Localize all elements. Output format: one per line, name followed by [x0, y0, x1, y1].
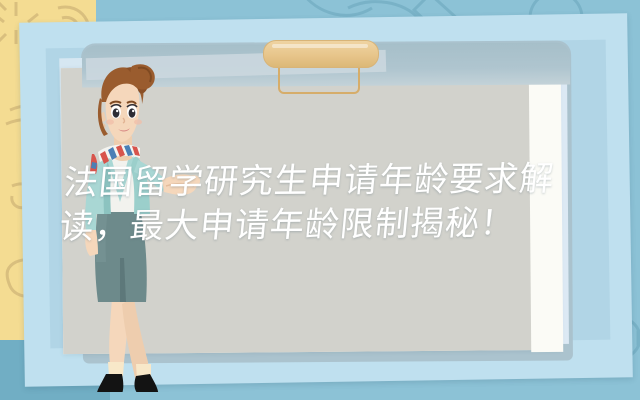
- shoe-left: [97, 374, 124, 392]
- blush-left: [106, 119, 114, 124]
- blush-right: [134, 119, 142, 124]
- page-title: 法国留学研究生申请年龄要求解读，最大申请年龄限制揭秘！: [58, 158, 579, 249]
- cover-image-canvas: 法国留学研究生申请年龄要求解读，最大申请年龄限制揭秘！: [0, 0, 640, 400]
- shoe-right: [134, 374, 158, 392]
- clipboard-clamp-highlight: [272, 44, 368, 48]
